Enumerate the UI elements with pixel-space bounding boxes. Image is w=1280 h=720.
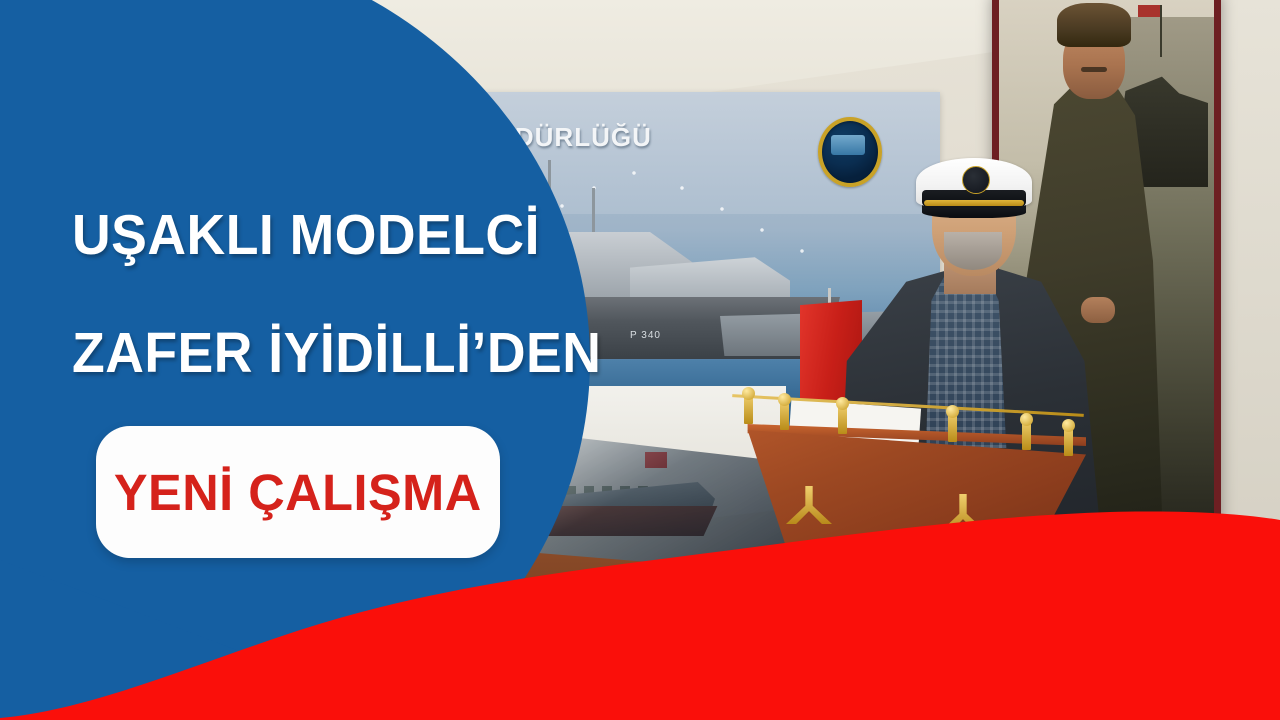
podium-post: [744, 394, 753, 424]
podium-post: [1064, 426, 1073, 456]
cap-gold-braid: [924, 200, 1024, 206]
status-badge: YENİ ÇALIŞMA: [96, 426, 500, 558]
portrait-flag-icon: [1138, 5, 1160, 17]
headline-line-1: UŞAKLI MODELCİ: [72, 205, 561, 267]
portrait-flagpole-icon: [1160, 5, 1162, 57]
badge-label: YENİ ÇALIŞMA: [114, 463, 482, 522]
portrait-kalpak-hat-icon: [1057, 3, 1131, 47]
portrait-moustache: [1081, 67, 1107, 72]
podium-post: [948, 412, 957, 442]
cap-peak: [922, 204, 1026, 218]
speaker-beard: [944, 232, 1002, 270]
podium-post: [1022, 420, 1031, 450]
portrait-hand: [1081, 297, 1115, 323]
podium-post: [838, 404, 847, 434]
ship-hull-number: P 340: [630, 330, 661, 341]
headline-line-2: ZAFER İYİDİLLİ’DEN: [72, 323, 561, 385]
podium-post: [780, 400, 789, 430]
headline-block: UŞAKLI MODELCİ ZAFER İYİDİLLİ’DEN: [72, 205, 592, 384]
banner-thumbnail: EMİLER MÜDÜRLÜĞÜ P 340 256: [0, 0, 1280, 720]
cap-badge-icon: [962, 166, 990, 194]
